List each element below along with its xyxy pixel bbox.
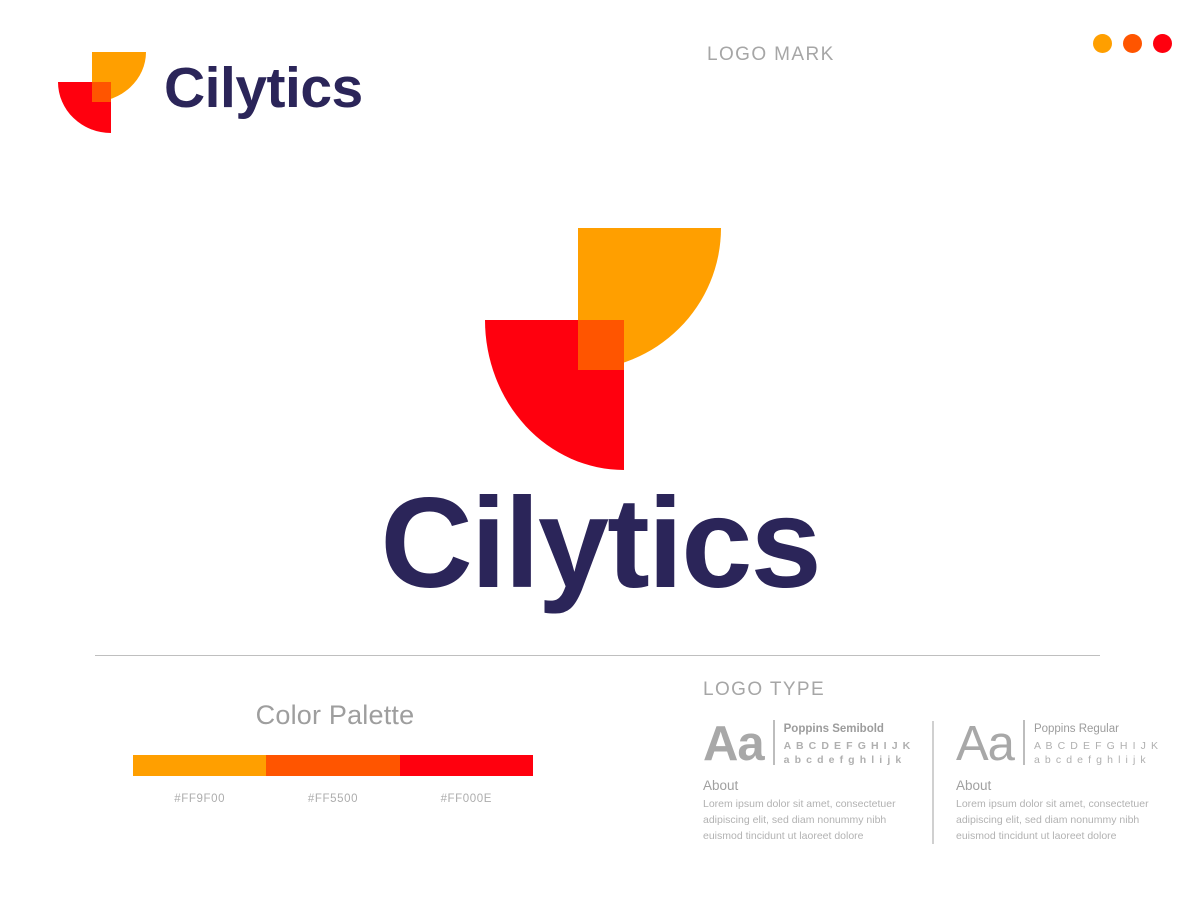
hero-overlap-square-icon: [578, 320, 624, 370]
color-swatch-bar: [133, 755, 533, 776]
section-divider: [95, 655, 1100, 656]
type-about-heading-semibold: About: [703, 778, 910, 793]
type-meta-semibold: Poppins Semibold A B C D E F G H I J K a…: [784, 723, 912, 767]
dot-orange-red-icon: [1123, 34, 1142, 53]
dot-red-icon: [1153, 34, 1172, 53]
header-dot-group: [1093, 34, 1172, 53]
color-swatch-2: [266, 755, 399, 776]
color-palette-section: Color Palette #FF9F00 #FF5500 #FF000E: [110, 700, 560, 805]
logo-overlap-square-icon: [92, 82, 111, 102]
type-alphabet-upper-semibold: A B C D E F G H I J K: [784, 739, 912, 753]
type-about-heading-regular: About: [956, 778, 1159, 793]
type-meta-regular: Poppins Regular A B C D E F G H I J K a …: [1034, 723, 1159, 767]
color-hex-row: #FF9F00 #FF5500 #FF000E: [133, 793, 533, 805]
dot-orange-icon: [1093, 34, 1112, 53]
type-alphabet-lower-regular: a b c d e f g h l i j k: [1034, 753, 1159, 767]
type-about-body-regular: Lorem ipsum dolor sit amet, consectetuer…: [956, 797, 1159, 844]
type-vertical-rule: [1023, 720, 1025, 765]
logotype-blocks: Aa Poppins Semibold A B C D E F G H I J …: [703, 717, 1143, 844]
color-hex-label-3: #FF000E: [400, 793, 533, 805]
type-block-divider: [932, 721, 934, 844]
type-alphabet-lower-semibold: a b c d e f g h l i j k: [784, 753, 912, 767]
header-wordmark: Cilytics: [164, 60, 363, 117]
color-swatch-1: [133, 755, 266, 776]
type-font-name-semibold: Poppins Semibold: [784, 723, 912, 735]
type-specimen-aa-semibold: Aa: [703, 722, 764, 767]
logotype-section: LOGO TYPE Aa Poppins Semibold A B C D E …: [703, 679, 1143, 844]
header-logo-mark: [54, 48, 149, 138]
hero-wordmark: Cilytics: [0, 480, 1200, 608]
type-about-body-semibold: Lorem ipsum dolor sit amet, consectetuer…: [703, 797, 910, 844]
color-swatch-3: [400, 755, 533, 776]
type-specimen-row-regular: Aa Poppins Regular A B C D E F G H I J K…: [956, 717, 1159, 767]
color-hex-label-1: #FF9F00: [133, 793, 266, 805]
type-alphabet-upper-regular: A B C D E F G H I J K: [1034, 739, 1159, 753]
hero-logo-mark: [485, 228, 721, 470]
brand-guideline-board: Cilytics LOGO MARK Cilytics Color Palett…: [0, 0, 1200, 900]
type-block-regular: Aa Poppins Regular A B C D E F G H I J K…: [956, 717, 1159, 844]
type-specimen-aa-regular: Aa: [956, 722, 1014, 767]
type-block-semibold: Aa Poppins Semibold A B C D E F G H I J …: [703, 717, 910, 844]
section-label-logo-mark: LOGO MARK: [707, 44, 835, 66]
color-hex-label-2: #FF5500: [266, 793, 399, 805]
type-font-name-regular: Poppins Regular: [1034, 723, 1159, 735]
color-palette-title: Color Palette: [110, 700, 560, 731]
type-specimen-row-semibold: Aa Poppins Semibold A B C D E F G H I J …: [703, 717, 910, 767]
section-label-logo-type: LOGO TYPE: [703, 679, 1143, 701]
type-vertical-rule: [773, 720, 775, 765]
header-logo-lockup: Cilytics: [54, 48, 374, 143]
